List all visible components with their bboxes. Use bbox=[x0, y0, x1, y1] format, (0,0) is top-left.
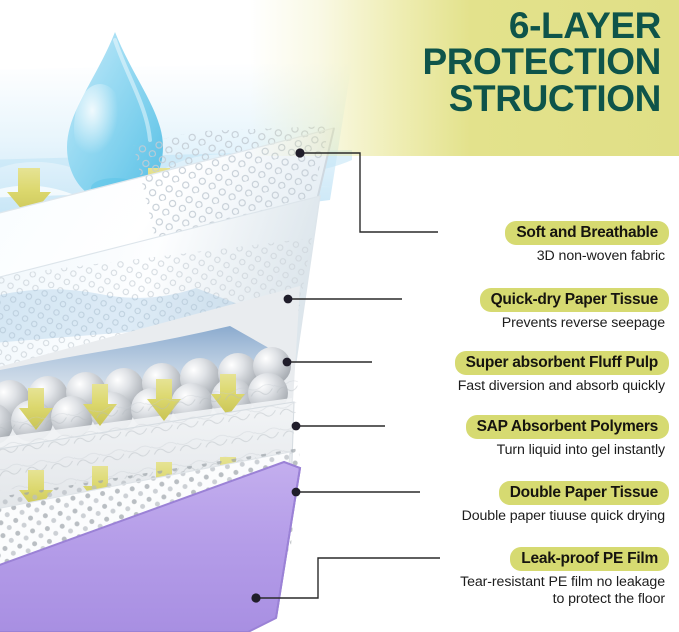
callout-subtitle: 3D non-woven fabric bbox=[379, 248, 669, 264]
callout-subtitle: Turn liquid into gel instantly bbox=[369, 442, 669, 458]
callout-subtitle: Prevents reverse seepage bbox=[379, 315, 669, 331]
callout-sap-absorbent-polymers: SAP Absorbent Polymers Turn liquid into … bbox=[369, 415, 669, 459]
callout-title: SAP Absorbent Polymers bbox=[466, 415, 669, 439]
callout-leak-proof-pe-film: Leak-proof PE Film Tear-resistant PE fil… bbox=[369, 547, 669, 607]
callout-soft-and-breathable: Soft and Breathable 3D non-woven fabric bbox=[379, 221, 669, 265]
callout-subtitle: Double paper tiuuse quick drying bbox=[369, 508, 669, 524]
callout-title: Double Paper Tissue bbox=[499, 481, 669, 505]
infographic-canvas: 6-LAYER PROTECTION STRUCTION Soft bbox=[0, 0, 679, 632]
callout-double-paper-tissue: Double Paper Tissue Double paper tiuuse … bbox=[369, 481, 669, 525]
callout-title: Super absorbent Fluff Pulp bbox=[455, 351, 669, 375]
callout-title: Soft and Breathable bbox=[505, 221, 669, 245]
callout-super-absorbent-fluff-pulp: Super absorbent Fluff Pulp Fast diversio… bbox=[369, 351, 669, 395]
callout-subtitle: Fast diversion and absorb quickly bbox=[369, 378, 669, 394]
callout-subtitle: Tear-resistant PE film no leakage to pro… bbox=[369, 574, 669, 607]
callout-quick-dry-paper-tissue: Quick-dry Paper Tissue Prevents reverse … bbox=[379, 288, 669, 332]
callout-title: Leak-proof PE Film bbox=[510, 547, 669, 571]
callout-title: Quick-dry Paper Tissue bbox=[480, 288, 669, 312]
page-title: 6-LAYER PROTECTION STRUCTION bbox=[331, 8, 661, 117]
